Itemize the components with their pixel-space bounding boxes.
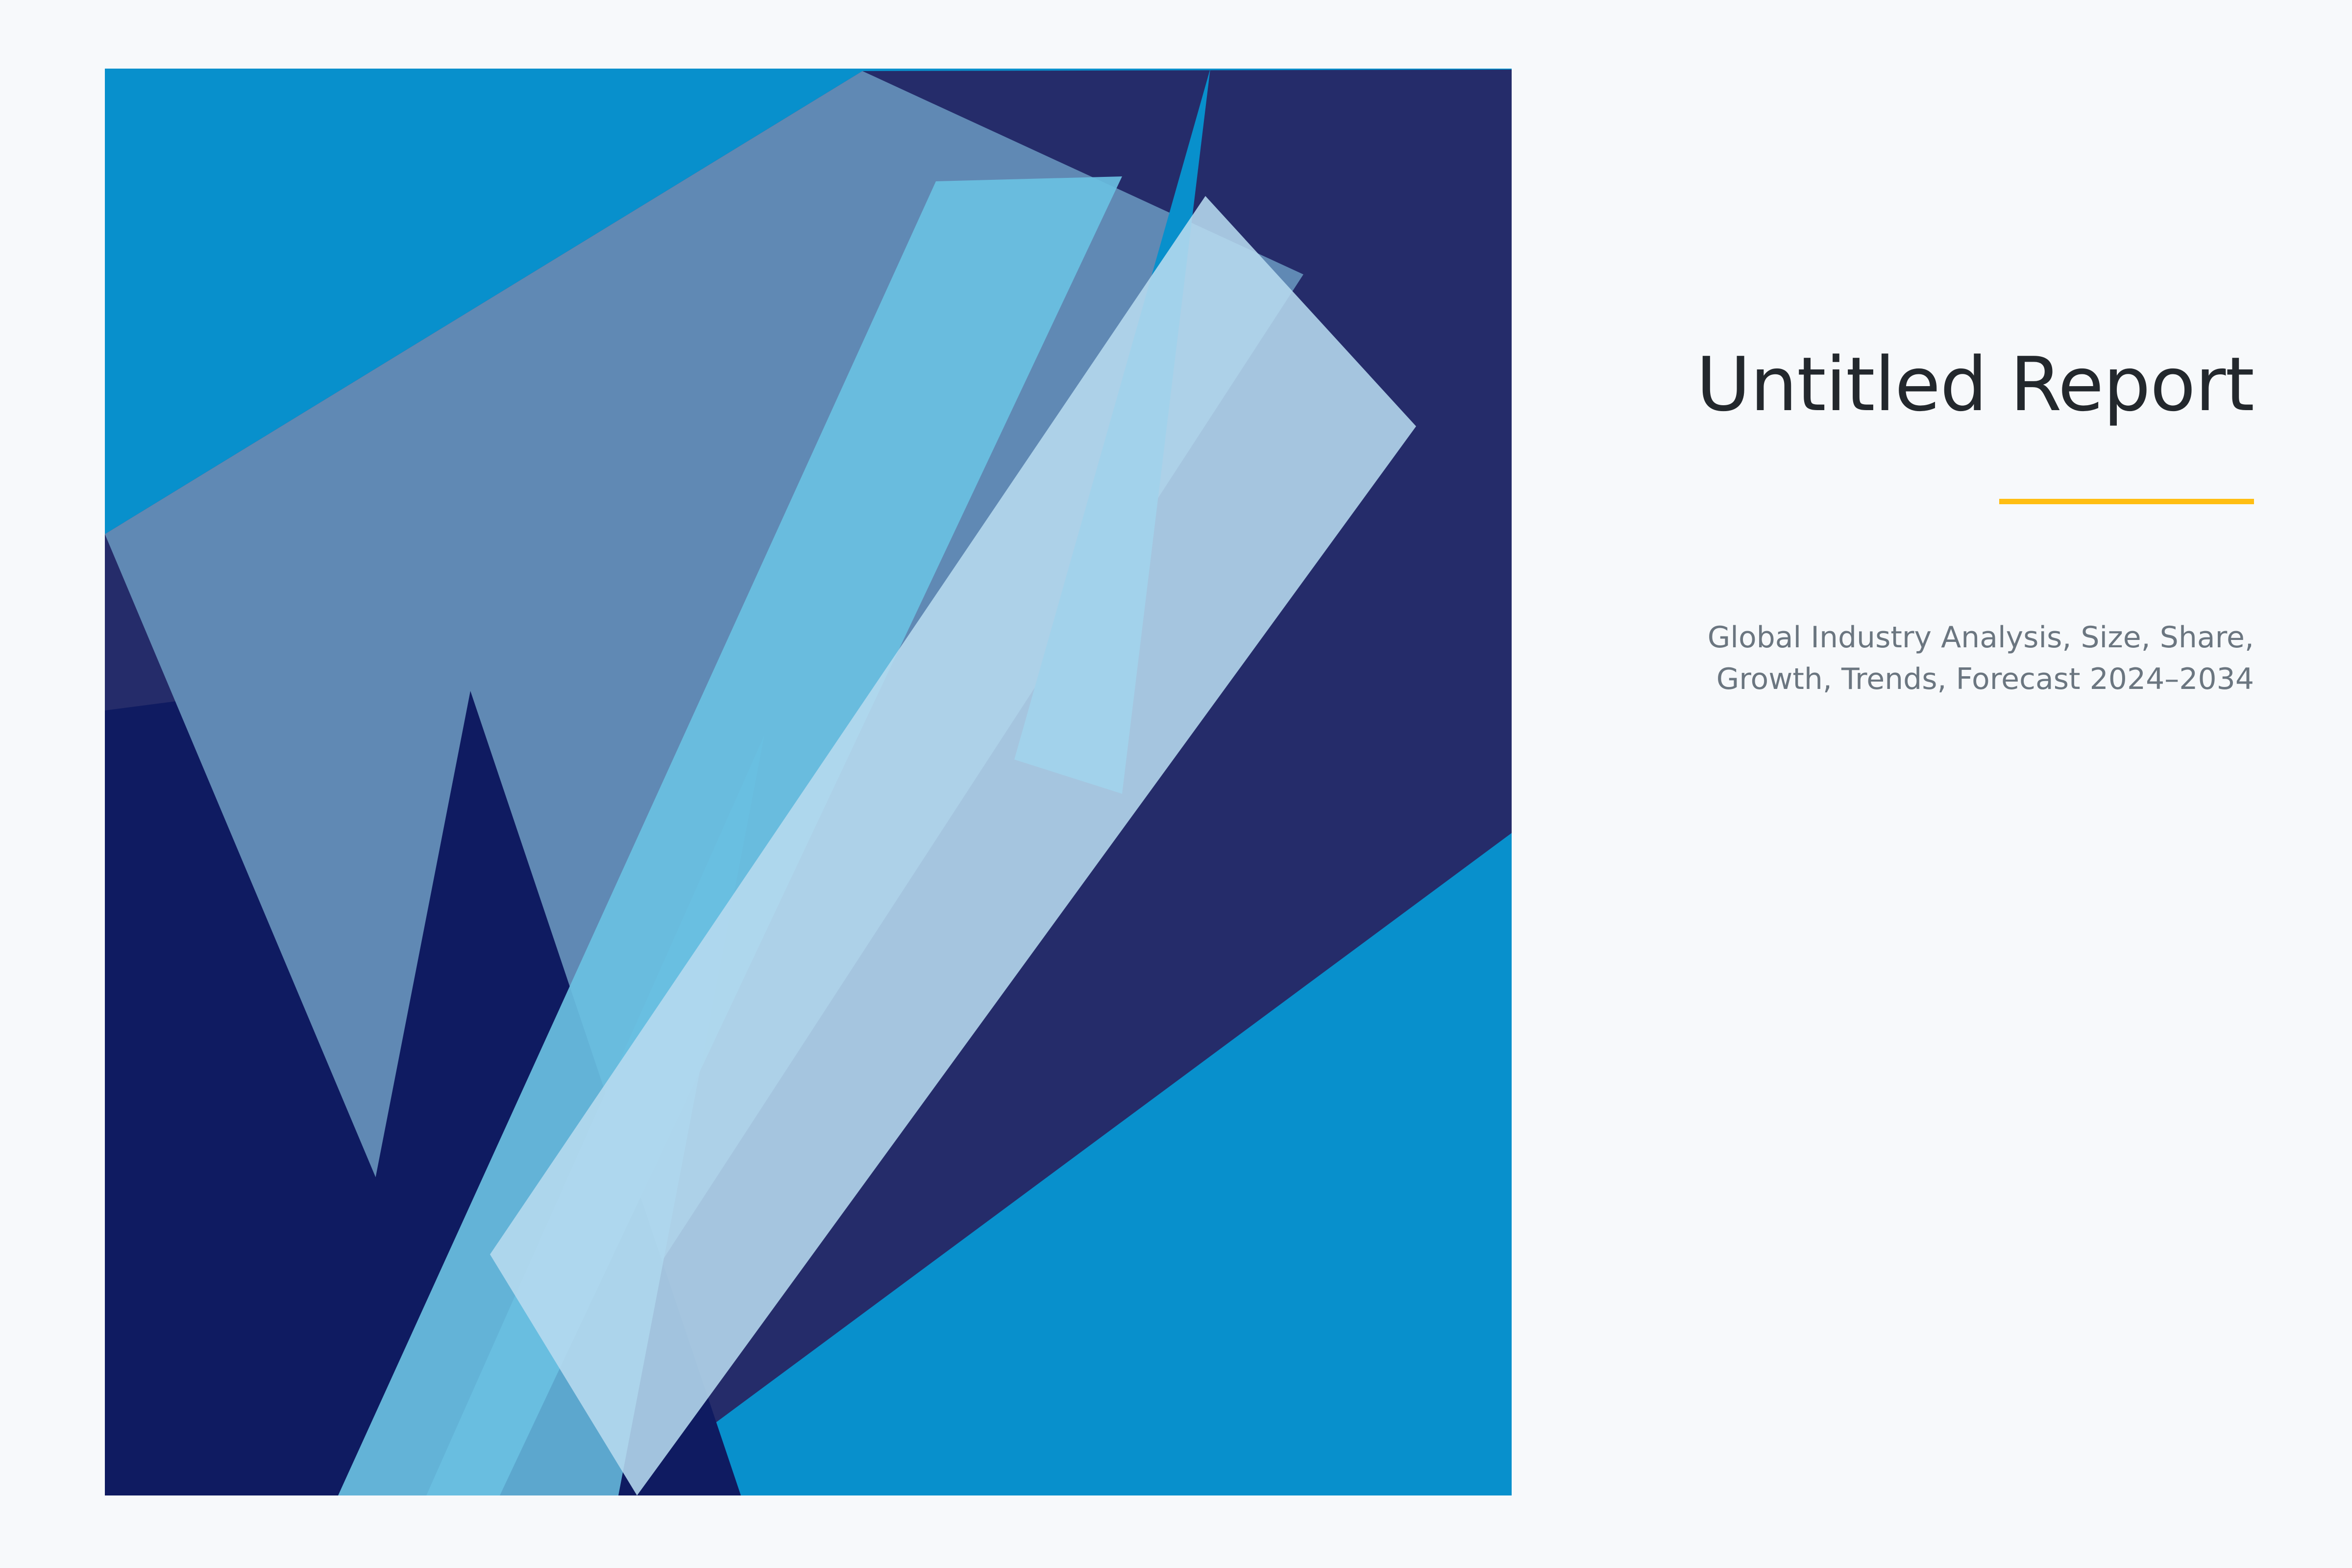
- cover-artwork: [0, 0, 1568, 1568]
- artwork-svg: [0, 0, 1568, 1568]
- report-cover-page: Untitled Report Global Industry Analysis…: [0, 0, 2352, 1568]
- report-title: Untitled Report: [1696, 343, 2254, 426]
- title-block: Untitled Report Global Industry Analysis…: [1568, 343, 2254, 701]
- title-accent-rule: [1999, 499, 2254, 504]
- report-subtitle: Global Industry Analysis, Size, Share, G…: [1637, 617, 2254, 700]
